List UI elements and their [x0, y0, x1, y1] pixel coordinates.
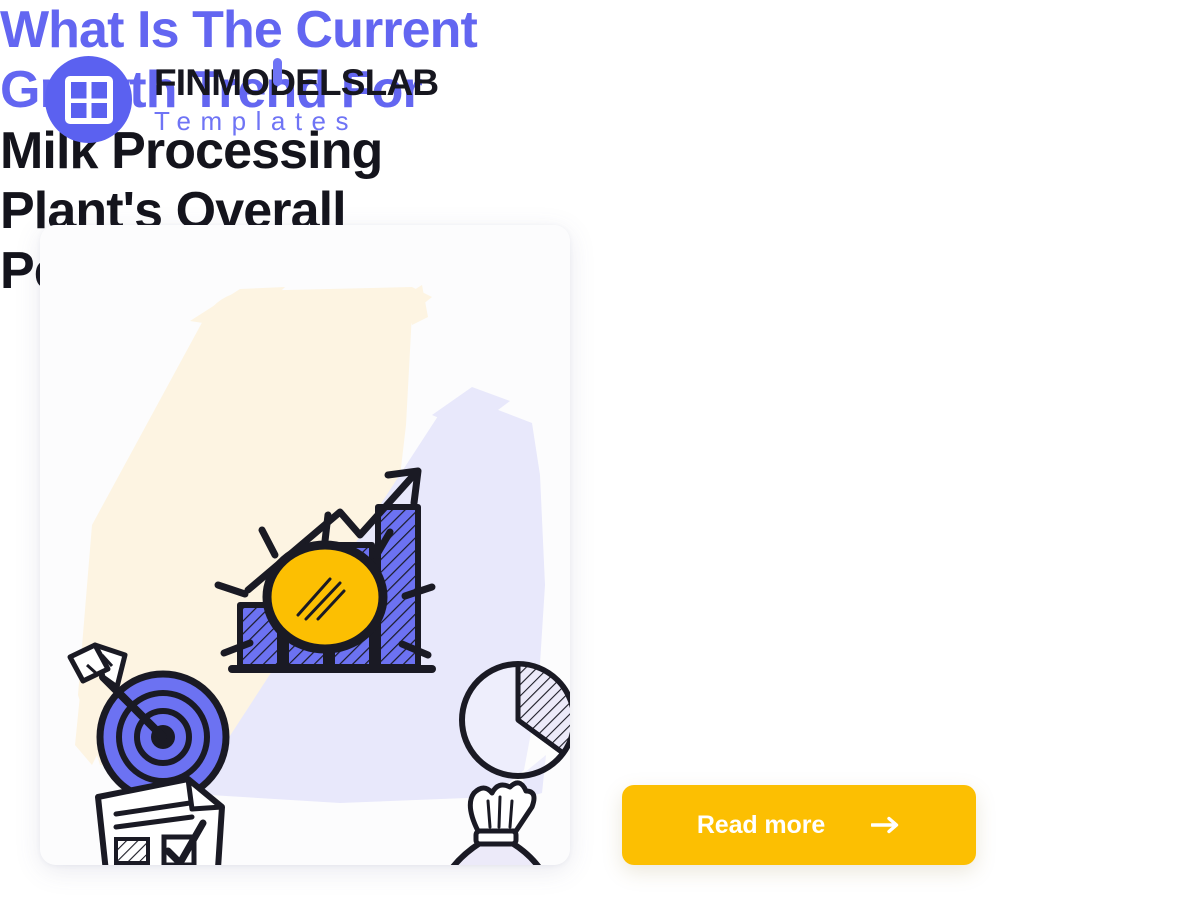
- grid-logo-icon: [45, 56, 132, 143]
- svg-text:$: $: [481, 861, 512, 865]
- power-bar-icon: [273, 58, 282, 86]
- brand-text-block: FINMODELSLAB Templates: [154, 64, 438, 136]
- illustration-card: $: [40, 225, 570, 865]
- headline-accent-line-1: What Is The Current: [0, 0, 1183, 60]
- arrow-right-icon: [871, 816, 901, 834]
- promo-card-page: FINMODELSLAB Templates: [0, 0, 1183, 914]
- brand-name: FINMODELSLAB: [154, 64, 438, 101]
- checklist-document-icon: [98, 779, 222, 865]
- brand-subtitle: Templates: [154, 108, 438, 134]
- brand-header[interactable]: FINMODELSLAB Templates: [45, 56, 438, 143]
- read-more-button[interactable]: Read more: [622, 785, 976, 865]
- business-growth-doodle-illustration: $: [40, 225, 570, 865]
- read-more-label: Read more: [697, 811, 825, 840]
- brand-name-text: FINMODELSLAB: [154, 62, 438, 103]
- pie-chart-icon: [462, 664, 570, 776]
